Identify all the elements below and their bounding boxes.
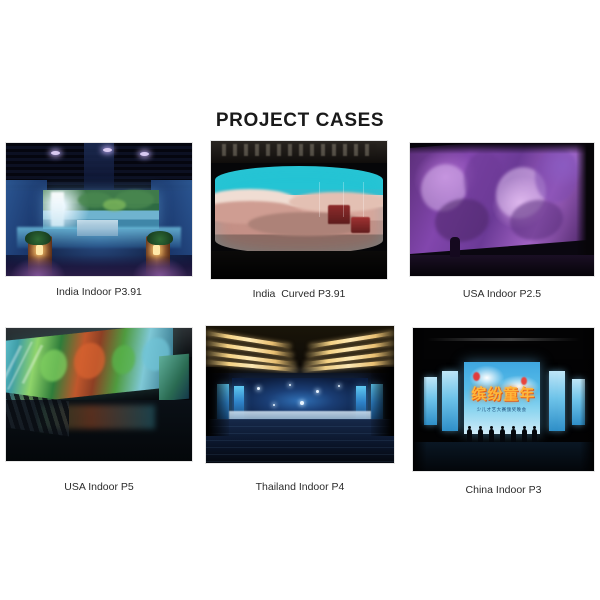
performer-silhouette	[522, 429, 527, 442]
performer-silhouette	[532, 429, 537, 442]
left-edge-shadow	[413, 328, 427, 471]
case-card-china-indoor-p3[interactable]: 缤纷童年 少儿才艺大赛颁奖晚会	[412, 327, 595, 472]
waterfall-highlight	[51, 192, 64, 227]
case-card-india-curved-p391[interactable]	[210, 140, 388, 280]
red-chair	[351, 217, 370, 233]
ceiling-spotlight-icon	[51, 151, 60, 155]
led-video-wall-purple	[410, 142, 588, 255]
case-caption-usa-indoor-p5: USA Indoor P5	[5, 481, 193, 493]
balloon-icon	[473, 372, 480, 381]
case-card-usa-indoor-p25[interactable]	[409, 142, 595, 277]
foreground-glow-left	[10, 257, 66, 276]
right-wing-shadow	[371, 367, 394, 436]
case-caption-china-indoor-p3: China Indoor P3	[412, 484, 595, 496]
screen-title-text: 缤纷童年	[471, 387, 532, 402]
balloon-icon	[521, 377, 527, 385]
upper-dark-area	[413, 328, 594, 359]
stage-podium	[77, 220, 118, 236]
lighting-rig	[427, 338, 579, 341]
stage-floor	[413, 442, 594, 471]
performer-silhouette	[511, 429, 516, 442]
hanging-wire	[319, 182, 320, 217]
case-photo-india-curved-p391[interactable]	[210, 140, 388, 280]
decorative-plant	[25, 231, 51, 245]
case-caption-india-indoor-p391: India Indoor P3.91	[5, 286, 193, 298]
visitor-silhouette	[450, 237, 460, 257]
case-card-usa-indoor-p5[interactable]	[5, 327, 193, 462]
project-cases-page: PROJECT CASES	[0, 0, 600, 600]
floor-seating-rows	[206, 419, 394, 463]
dark-floor	[410, 255, 594, 276]
curved-led-screen	[215, 166, 384, 254]
performer-silhouette	[467, 429, 472, 442]
page-title: PROJECT CASES	[0, 110, 600, 132]
screen-subtitle-text: 少儿才艺大赛颁奖晚会	[473, 407, 531, 413]
case-card-thailand-indoor-p4[interactable]	[205, 325, 395, 464]
case-photo-thailand-indoor-p4[interactable]	[205, 325, 395, 464]
ceiling-truss-detail	[222, 144, 377, 156]
case-photo-india-indoor-p391[interactable]	[5, 142, 193, 277]
red-chair	[328, 205, 350, 224]
performer-silhouette	[500, 429, 505, 442]
led-side-panel	[442, 371, 458, 431]
performer-silhouette	[478, 429, 483, 442]
lamp-light-icon	[36, 245, 43, 255]
led-side-panel	[549, 371, 565, 431]
hanging-wire	[343, 182, 344, 217]
case-photo-usa-indoor-p5[interactable]	[5, 327, 193, 462]
case-caption-thailand-indoor-p4: Thailand Indoor P4	[205, 481, 395, 493]
case-caption-india-curved-p391: India Curved P3.91	[210, 288, 388, 300]
case-caption-usa-indoor-p25: USA Indoor P2.5	[409, 288, 595, 300]
lamp-light-icon	[153, 245, 160, 255]
left-wing-shadow	[206, 367, 229, 436]
decorative-plant	[147, 231, 173, 245]
side-led-panel	[159, 353, 189, 401]
performer-silhouette	[489, 429, 494, 442]
foreground-glow-right	[132, 257, 188, 276]
dark-foreground	[211, 251, 387, 279]
case-photo-usa-indoor-p25[interactable]	[409, 142, 595, 277]
hanging-wire	[363, 182, 364, 217]
main-led-screen: 缤纷童年 少儿才艺大赛颁奖晚会	[464, 362, 540, 434]
case-photo-china-indoor-p3[interactable]: 缤纷童年 少儿才艺大赛颁奖晚会	[412, 327, 595, 472]
case-card-india-indoor-p391[interactable]	[5, 142, 193, 277]
ceiling-shadow	[410, 143, 594, 154]
right-edge-shadow	[580, 328, 594, 471]
